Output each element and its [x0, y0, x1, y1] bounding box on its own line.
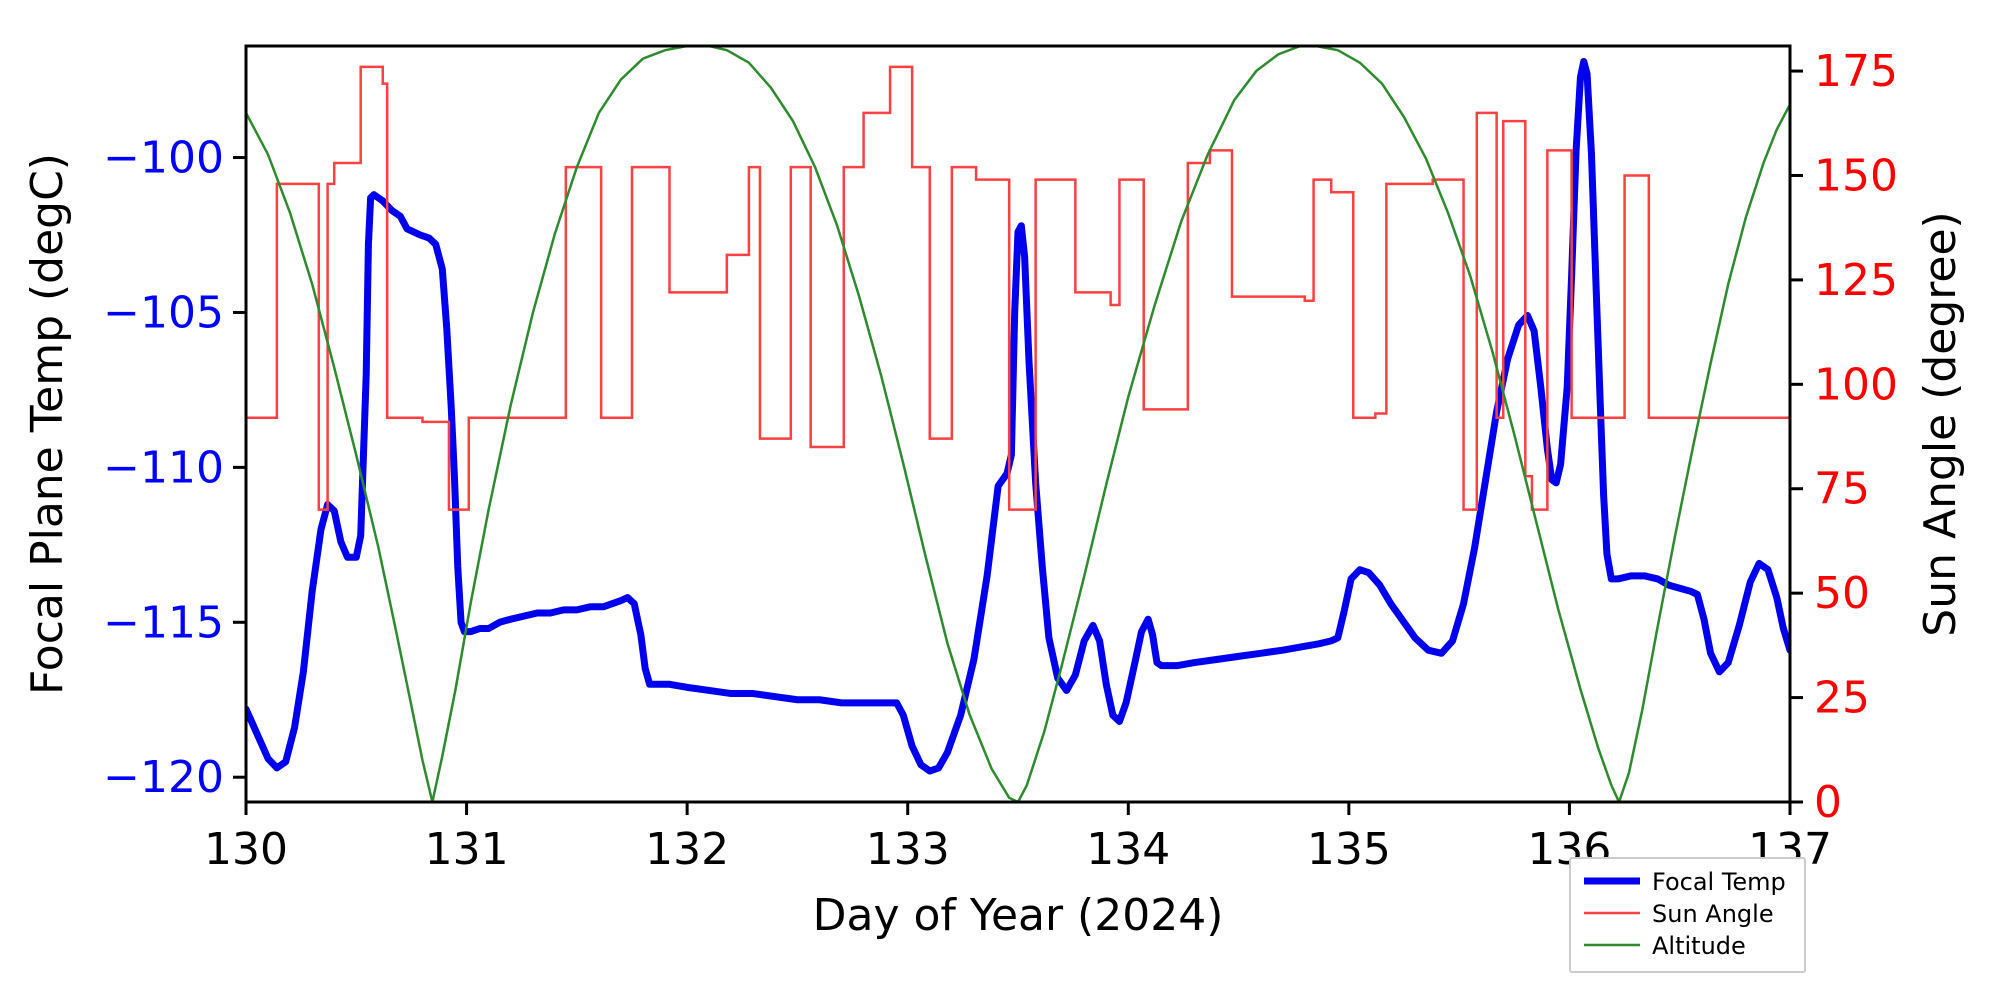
focal-plane-temp-chart: 130131132133134135136137 −100−105−110−11… [0, 0, 2000, 1000]
y-right-tick-label: 100 [1814, 359, 1898, 410]
y-left-tick-label: −100 [103, 133, 224, 184]
x-tick-label: 133 [866, 824, 950, 875]
y-right-tick-label: 175 [1814, 46, 1898, 97]
y-axis-right-title: Sun Angle (degree) [1915, 211, 1966, 636]
x-tick-label: 131 [425, 824, 509, 875]
legend-label-focal-temp: Focal Temp [1652, 868, 1786, 896]
y-right-tick-label: 0 [1814, 777, 1842, 828]
chart-canvas: 130131132133134135136137 −100−105−110−11… [0, 0, 2000, 1000]
y-axis-left-title: Focal Plane Temp (degC) [22, 153, 73, 695]
legend-label-sun-angle: Sun Angle [1652, 900, 1774, 928]
x-tick-label: 132 [645, 824, 729, 875]
y-right-tick-label: 150 [1814, 150, 1898, 201]
legend[interactable]: Focal TempSun AngleAltitude [1570, 858, 1805, 972]
y-left-tick-label: −105 [103, 287, 224, 338]
y-right-tick-label: 125 [1814, 255, 1898, 306]
y-left-tick-label: −115 [103, 597, 224, 648]
legend-label-altitude: Altitude [1652, 932, 1746, 960]
y-left-tick-label: −120 [103, 752, 224, 803]
y-right-tick-label: 50 [1814, 568, 1870, 619]
x-axis-title: Day of Year (2024) [813, 890, 1224, 941]
y-right-tick-label: 25 [1814, 673, 1870, 724]
x-tick-label: 130 [204, 824, 288, 875]
chart-background [0, 0, 2000, 1000]
x-tick-label: 135 [1307, 824, 1391, 875]
x-tick-label: 134 [1086, 824, 1170, 875]
y-left-tick-label: −110 [103, 442, 224, 493]
y-right-tick-label: 75 [1814, 464, 1870, 515]
